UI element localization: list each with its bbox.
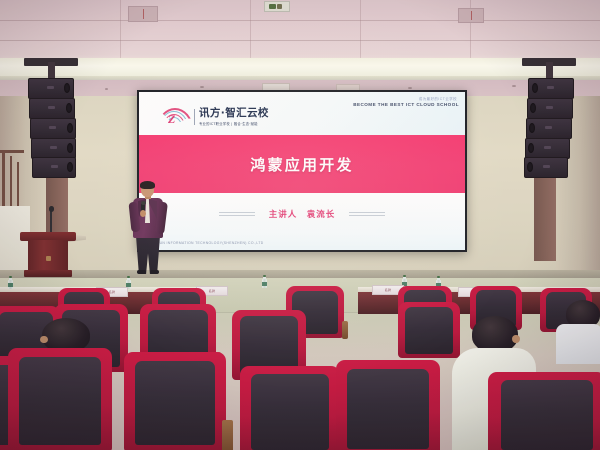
seat bbox=[8, 348, 112, 450]
attendee-head bbox=[42, 318, 90, 352]
ceiling-projector bbox=[264, 1, 290, 12]
wooden-lectern bbox=[24, 232, 72, 280]
ceiling-vent-left bbox=[128, 6, 158, 22]
brand-logo: Z 讯方·智汇云校 专业的ICT职业学校 | 融合·生态·赋能 bbox=[157, 106, 269, 128]
rainbow-arc-logo-icon: Z bbox=[157, 106, 191, 128]
seat bbox=[398, 302, 460, 358]
seat bbox=[124, 352, 226, 450]
seat bbox=[336, 360, 440, 450]
slide-title: 鸿蒙应用开发 bbox=[139, 135, 465, 193]
lecture-hall-photo: 成为最好的ICT云学校 BECOME THE BEST ICT CLOUD SC… bbox=[0, 0, 600, 450]
brand-subtitle: 专业的ICT职业学校 | 融合·生态·赋能 bbox=[199, 121, 269, 126]
attendee-torso bbox=[556, 324, 600, 364]
presenter-credit-row: 主讲人 袁流长 bbox=[139, 208, 465, 220]
seat bbox=[488, 372, 600, 450]
brand-name-cn: 讯方·智汇云校 bbox=[199, 108, 269, 119]
ceiling-vent-right bbox=[458, 8, 484, 23]
slide-tagline-en: BECOME THE BEST ICT CLOUD SCHOOL bbox=[353, 102, 459, 107]
gooseneck-microphone-icon bbox=[50, 210, 52, 234]
standing-presenter bbox=[128, 182, 168, 274]
slide-content: 成为最好的ICT云学校 BECOME THE BEST ICT CLOUD SC… bbox=[139, 92, 465, 250]
placard-text: 名牌 bbox=[209, 289, 215, 293]
logo-letter-z: Z bbox=[168, 113, 175, 125]
attendee-head bbox=[472, 316, 518, 352]
seat bbox=[240, 366, 340, 450]
logo-divider bbox=[194, 109, 195, 125]
ceiling-light-cove bbox=[0, 58, 600, 78]
presenter-credit: 主讲人 袁流长 bbox=[269, 208, 336, 220]
projection-screen: 成为最好的ICT云学校 BECOME THE BEST ICT CLOUD SC… bbox=[137, 90, 467, 252]
ceiling bbox=[0, 0, 600, 62]
placard-text: 名牌 bbox=[385, 288, 391, 292]
slide-tagline-cn: 成为最好的ICT云学校 bbox=[419, 96, 457, 101]
